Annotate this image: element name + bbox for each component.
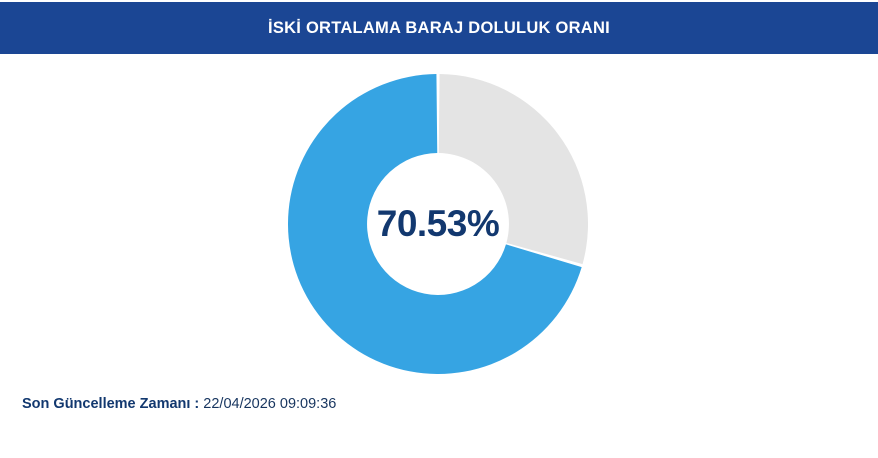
donut-slice-empty[interactable] xyxy=(439,74,588,264)
last-update-label: Son Güncelleme Zamanı : xyxy=(22,396,199,412)
footer: Son Güncelleme Zamanı : 22/04/2026 09:09… xyxy=(0,390,878,458)
last-update-value: 22/04/2026 09:09:36 xyxy=(203,396,336,412)
last-update-line: Son Güncelleme Zamanı : 22/04/2026 09:09… xyxy=(22,396,336,412)
donut-chart: 70.53% xyxy=(288,74,588,374)
donut-chart-svg xyxy=(288,74,588,374)
chart-area: 70.53% xyxy=(0,54,878,390)
header-bar: İSKİ ORTALAMA BARAJ DOLULUK ORANI xyxy=(0,2,878,54)
dam-occupancy-widget: İSKİ ORTALAMA BARAJ DOLULUK ORANI 70.53%… xyxy=(0,0,878,458)
page-title: İSKİ ORTALAMA BARAJ DOLULUK ORANI xyxy=(268,19,610,38)
